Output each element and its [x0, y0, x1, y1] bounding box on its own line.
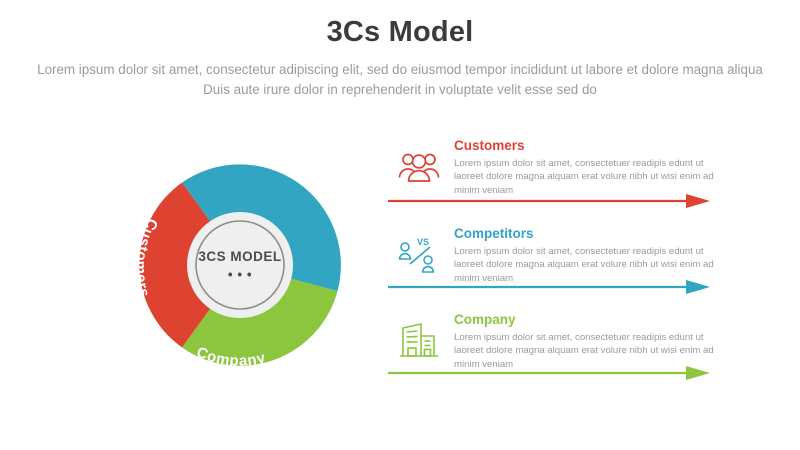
versus-label: VS — [417, 237, 429, 247]
donut-center-label: 3CS MODEL — [198, 249, 281, 264]
block-text: Competitors Lorem ipsum dolor sit amet, … — [454, 226, 722, 285]
donut-center-disc — [187, 212, 293, 318]
versus-people-icon: VS — [396, 234, 442, 276]
block-text: Company Lorem ipsum dolor sit amet, cons… — [454, 312, 722, 371]
page-subtitle: Lorem ipsum dolor sit amet, consectetur … — [36, 60, 764, 100]
block-body-customers: Lorem ipsum dolor sit amet, consectetuer… — [454, 157, 722, 197]
arrow-company — [388, 366, 712, 380]
donut-center-dots: • • • — [228, 267, 252, 282]
page-title: 3Cs Model — [0, 16, 800, 49]
arrow-competitors — [388, 280, 712, 294]
people-group-icon — [396, 146, 442, 188]
donut-chart: 3CS MODEL • • • Competitors Company Cust… — [104, 129, 376, 401]
block-title-company: Company — [454, 312, 722, 328]
block-text: Customers Lorem ipsum dolor sit amet, co… — [454, 138, 722, 197]
block-title-competitors: Competitors — [454, 226, 722, 242]
infographic-canvas: 3Cs Model Lorem ipsum dolor sit amet, co… — [0, 0, 800, 450]
block-title-customers: Customers — [454, 138, 722, 154]
building-icon — [396, 320, 442, 362]
arrow-customers — [388, 194, 712, 208]
